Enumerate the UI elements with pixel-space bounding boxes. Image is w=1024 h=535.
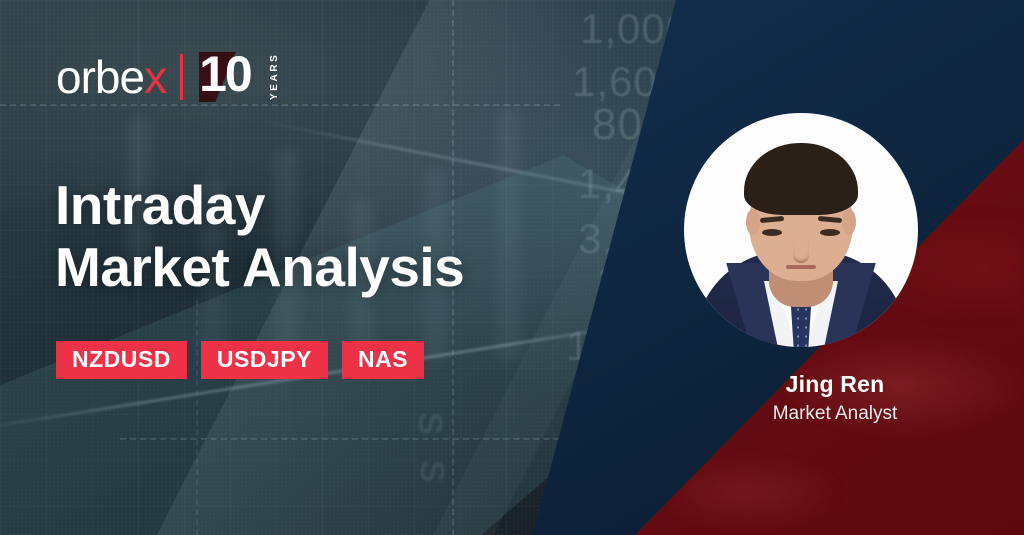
instrument-tag-list: NZDUSD USDJPY NAS bbox=[56, 341, 424, 379]
logo-divider bbox=[180, 54, 183, 100]
avatar-nose bbox=[793, 241, 809, 263]
anniversary-number: 10 bbox=[199, 52, 257, 102]
avatar-ear-left bbox=[746, 209, 760, 235]
background-ghost-letter: S bbox=[412, 460, 451, 483]
avatar-mouth bbox=[786, 265, 816, 269]
author-role: Market Analyst bbox=[725, 401, 945, 427]
avatar-hair bbox=[744, 143, 858, 215]
crosshair-horizontal bbox=[120, 438, 600, 440]
orbex-logo[interactable]: orbex 10 YEARS bbox=[56, 52, 280, 102]
logo-wordmark: orbex bbox=[56, 54, 166, 100]
crosshair-vertical bbox=[196, 300, 198, 535]
author-avatar bbox=[684, 113, 918, 347]
crosshair-horizontal bbox=[0, 104, 560, 106]
tag-usdjpy[interactable]: USDJPY bbox=[201, 341, 328, 379]
tag-nas[interactable]: NAS bbox=[342, 341, 424, 379]
marketing-banner: 1,0001,6008001,4003,20020016,8003,200200… bbox=[0, 0, 1024, 535]
avatar-ear-right bbox=[842, 209, 856, 235]
page-title: Intraday Market Analysis bbox=[55, 175, 464, 298]
anniversary-number-text: 10 bbox=[199, 52, 251, 99]
title-line-2: Market Analysis bbox=[55, 237, 464, 299]
author-name: Jing Ren bbox=[725, 371, 945, 399]
logo-word-accent: x bbox=[144, 54, 166, 100]
logo-word-main: orbe bbox=[56, 54, 144, 100]
avatar-eye-left bbox=[762, 229, 782, 236]
avatar-eye-right bbox=[820, 229, 840, 236]
author-byline: Jing Ren Market Analyst bbox=[725, 371, 945, 426]
tag-nzdusd[interactable]: NZDUSD bbox=[56, 341, 187, 379]
title-line-1: Intraday bbox=[55, 174, 265, 236]
anniversary-years-label: YEARS bbox=[269, 54, 280, 100]
background-ghost-letter: S bbox=[410, 412, 449, 435]
